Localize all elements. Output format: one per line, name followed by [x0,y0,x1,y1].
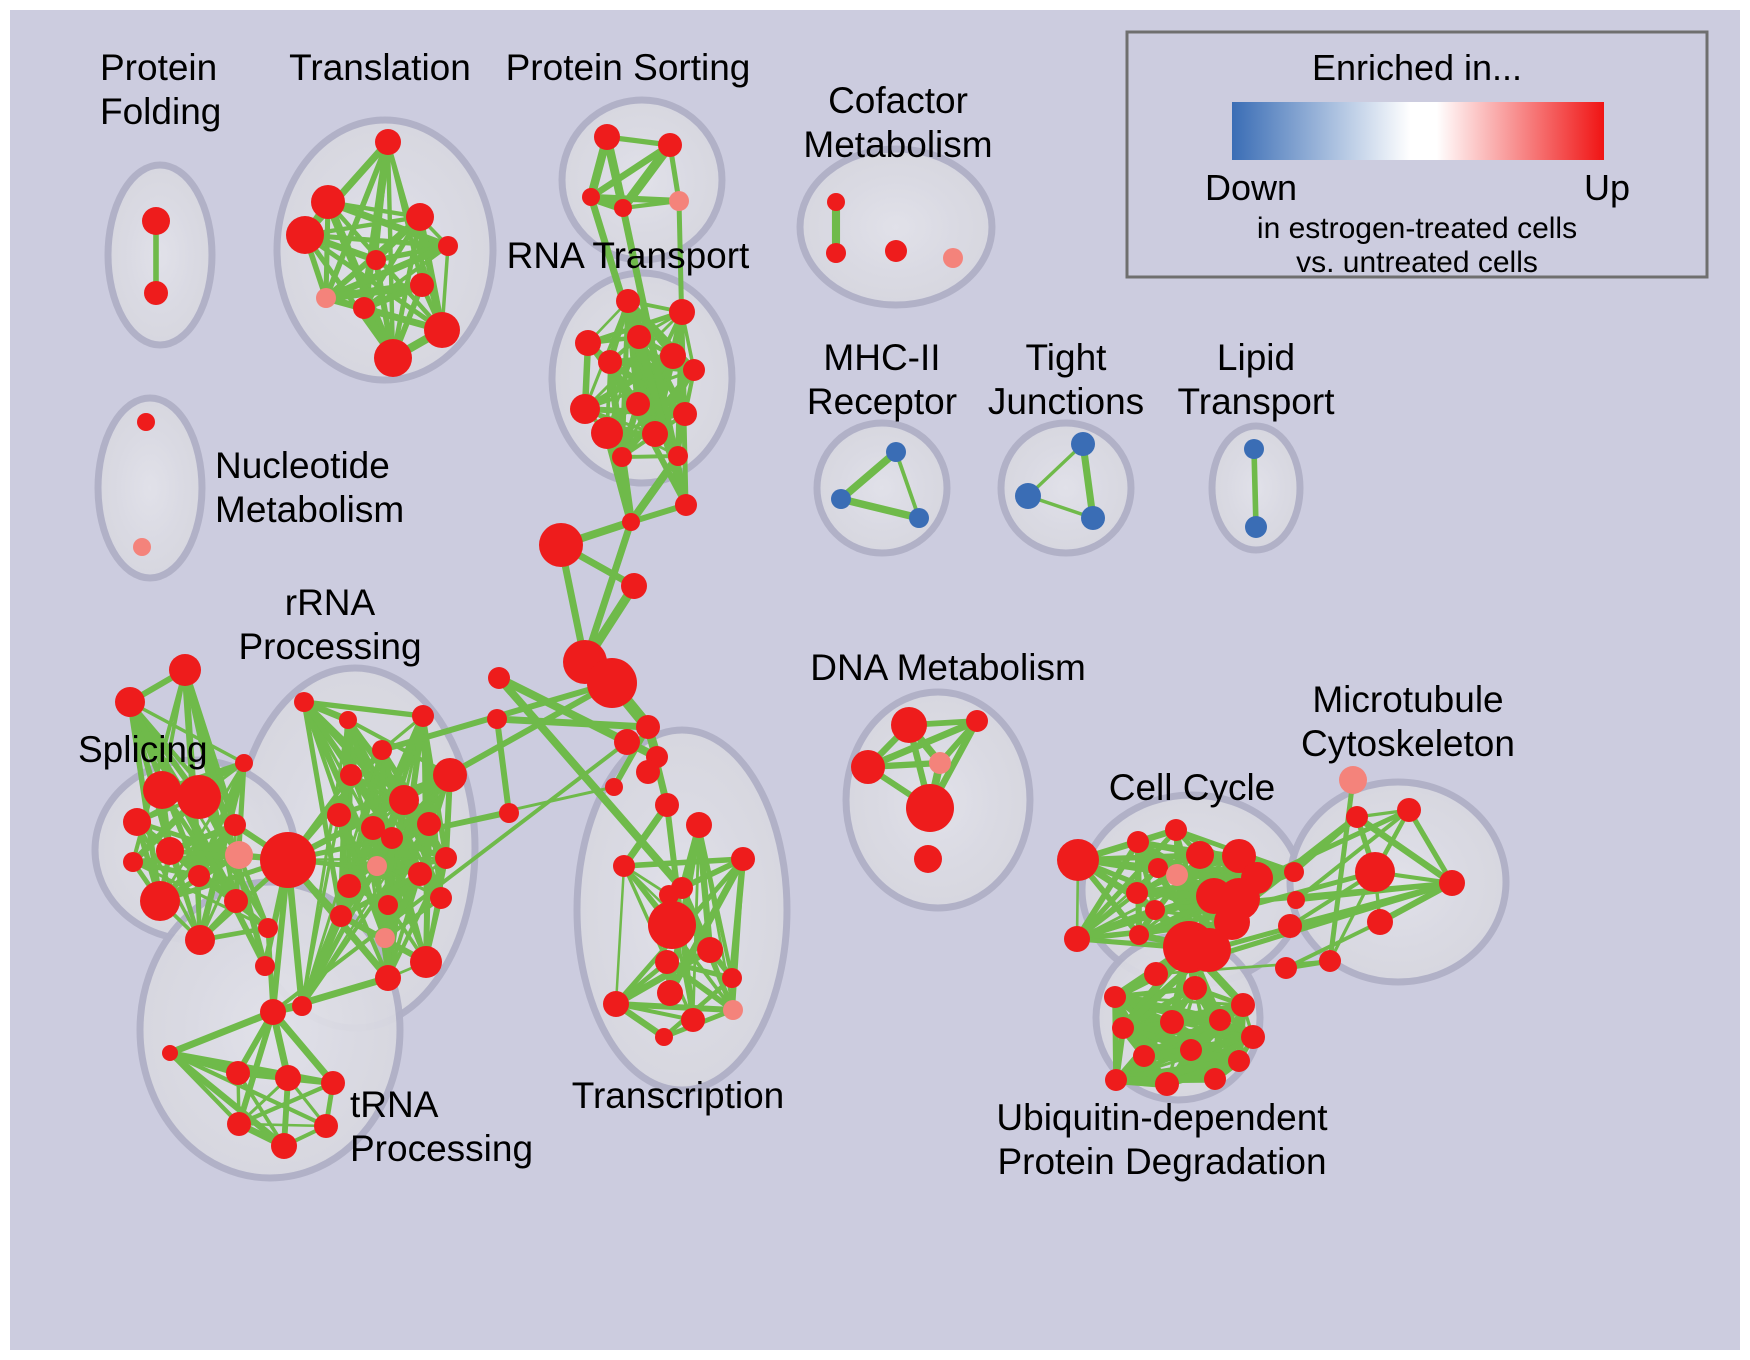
gene-set-node[interactable] [1148,858,1168,878]
gene-set-node[interactable] [156,837,184,865]
gene-set-node[interactable] [487,709,507,729]
cluster-label-protein-folding: ProteinFolding [100,47,221,132]
gene-set-node[interactable] [1160,1010,1184,1034]
gene-set-node[interactable] [587,658,637,708]
gene-set-node[interactable] [1439,870,1465,896]
cluster-label-rna-transport: RNA Transport [507,235,750,276]
gene-set-node[interactable] [626,392,650,416]
gene-set-node[interactable] [582,188,600,206]
gene-set-node[interactable] [660,343,686,369]
gene-set-node[interactable] [1278,914,1302,938]
gene-set-node[interactable] [1287,891,1305,909]
gene-set-node[interactable] [144,281,168,305]
gene-set-node[interactable] [133,538,151,556]
gene-set-node[interactable] [1209,1009,1231,1031]
gene-set-node[interactable] [378,895,398,915]
gene-set-node[interactable] [340,764,362,786]
gene-set-node[interactable] [1105,1069,1127,1091]
gene-set-node[interactable] [636,760,660,784]
edge-protein-sorting [591,197,679,201]
network-canvas: ProteinFoldingTranslationProtein Sorting… [10,10,1740,1350]
gene-set-node[interactable] [433,758,467,792]
gene-set-node[interactable] [612,447,632,467]
gene-set-node[interactable] [162,1045,178,1061]
gene-set-node[interactable] [389,785,419,815]
gene-set-node[interactable] [330,905,352,927]
cluster-label-transcription: Transcription [572,1075,784,1116]
gene-set-node[interactable] [1187,928,1231,972]
gene-set-node[interactable] [488,667,510,689]
gene-set-node[interactable] [655,950,679,974]
gene-set-node[interactable] [1071,432,1095,456]
gene-set-node[interactable] [316,288,336,308]
gene-set-node[interactable] [1183,976,1207,1000]
gene-set-node[interactable] [226,1061,250,1085]
gene-set-node[interactable] [686,812,712,838]
gene-set-node[interactable] [909,508,929,528]
cluster-ellipse-mhc-ii-receptor [817,423,947,553]
gene-set-node[interactable] [137,413,155,431]
legend-up-label: Up [1584,167,1630,208]
gene-set-node[interactable] [225,841,253,869]
gene-set-node[interactable] [655,1028,673,1046]
gene-set-node[interactable] [1339,766,1367,794]
gene-set-node[interactable] [406,203,434,231]
gene-set-node[interactable] [372,740,392,760]
gene-set-node[interactable] [655,793,679,817]
gene-set-node[interactable] [668,446,688,466]
gene-set-node[interactable] [327,803,351,827]
gene-set-node[interactable] [140,881,180,921]
gene-set-node[interactable] [722,968,742,988]
gene-set-node[interactable] [613,855,635,877]
gene-set-node[interactable] [885,240,907,262]
gene-set-node[interactable] [260,832,316,888]
gene-set-node[interactable] [123,852,143,872]
edge-lipid [1254,449,1256,527]
gene-set-node[interactable] [227,1112,251,1136]
legend-caption-line1: in estrogen-treated cells [1257,212,1577,245]
gene-set-node[interactable] [408,862,432,886]
cluster-label-trna-processing: tRNAProcessing [350,1084,533,1169]
legend-panel: Enriched in... Down Up in estrogen-treat… [1127,32,1707,279]
gene-set-node[interactable] [1186,841,1214,869]
gene-set-node[interactable] [1104,986,1126,1008]
gene-set-node[interactable] [1112,1017,1134,1039]
gene-set-node[interactable] [603,991,629,1017]
figure-root: ProteinFoldingTranslationProtein Sorting… [0,0,1750,1360]
gene-set-node[interactable] [185,925,215,955]
gene-set-node[interactable] [499,803,519,823]
gene-set-node[interactable] [169,654,201,686]
cluster-label-nucleotide-metabolism: NucleotideMetabolism [215,445,404,530]
gene-set-node[interactable] [831,489,851,509]
gene-set-node[interactable] [271,1133,297,1159]
gene-set-node[interactable] [614,199,632,217]
gene-set-node[interactable] [1275,957,1297,979]
cluster-label-tight-junctions: TightJunctions [988,337,1144,422]
gene-set-node[interactable] [906,784,954,832]
gene-set-node[interactable] [591,417,623,449]
gene-set-node[interactable] [929,752,951,774]
edge-bridge [497,719,509,813]
gene-set-node[interactable] [177,775,221,819]
gene-set-node[interactable] [616,289,640,313]
gene-set-node[interactable] [374,339,412,377]
gene-set-node[interactable] [224,889,248,913]
gene-set-node[interactable] [1245,516,1267,538]
gene-set-node[interactable] [539,523,583,567]
gene-set-node[interactable] [891,707,927,743]
gene-set-node[interactable] [123,808,151,836]
gene-set-node[interactable] [658,133,682,157]
gene-set-node[interactable] [1057,839,1099,881]
edge-bridge [497,719,648,727]
gene-set-node[interactable] [657,980,683,1006]
gene-set-node[interactable] [621,573,647,599]
gene-set-node[interactable] [1204,1068,1226,1090]
legend-caption-line2: vs. untreated cells [1296,246,1538,279]
gene-set-node[interactable] [723,1000,743,1020]
gene-set-node[interactable] [255,956,275,976]
gene-set-node[interactable] [321,1071,345,1095]
cluster-label-ubiquitin-protein-degradation: Ubiquitin-dependentProtein Degradation [996,1097,1328,1182]
gene-set-node[interactable] [115,687,145,717]
gene-set-node[interactable] [417,812,441,836]
gene-set-node[interactable] [914,845,942,873]
gene-set-node[interactable] [188,865,210,887]
gene-set-node[interactable] [826,243,846,263]
gene-set-node[interactable] [286,216,324,254]
gene-set-node[interactable] [224,814,246,836]
gene-set-node[interactable] [1155,1072,1179,1096]
cluster-label-cell-cycle: Cell Cycle [1109,767,1276,808]
gene-set-node[interactable] [851,750,885,784]
gene-set-node[interactable] [627,325,651,349]
gene-set-node[interactable] [1126,882,1148,904]
gene-set-node[interactable] [622,513,640,531]
legend-gradient-bar [1232,102,1604,160]
gene-set-node[interactable] [1241,1025,1265,1049]
gene-set-node[interactable] [598,350,622,374]
cluster-label-rrna-processing: rRNAProcessing [238,582,421,667]
gene-set-node[interactable] [575,330,601,356]
gene-set-node[interactable] [424,312,460,348]
gene-set-node[interactable] [438,236,458,256]
gene-set-node[interactable] [375,928,395,948]
gene-set-node[interactable] [375,965,401,991]
cluster-label-microtubule-cytoskeleton: MicrotubuleCytoskeleton [1301,679,1515,764]
cluster-label-dna-metabolism: DNA Metabolism [810,647,1086,688]
enrichment-network-svg: ProteinFoldingTranslationProtein Sorting… [10,10,1740,1350]
gene-set-node[interactable] [669,299,695,325]
gene-set-node[interactable] [1367,909,1393,935]
gene-set-node[interactable] [827,193,845,211]
gene-set-node[interactable] [673,402,697,426]
gene-set-node[interactable] [353,297,375,319]
gene-set-node[interactable] [337,874,361,898]
gene-set-node[interactable] [1081,506,1105,530]
gene-set-node[interactable] [339,711,357,729]
cluster-label-protein-sorting: Protein Sorting [506,47,751,88]
gene-set-node[interactable] [886,442,906,462]
gene-set-node[interactable] [731,847,755,871]
legend-down-label: Down [1205,167,1297,208]
gene-set-node[interactable] [410,946,442,978]
gene-set-node[interactable] [375,129,401,155]
cluster-label-lipid-transport: LipidTransport [1178,337,1336,422]
legend-title: Enriched in... [1312,47,1522,88]
gene-set-node[interactable] [410,273,434,297]
gene-set-node[interactable] [1397,798,1421,822]
gene-set-node[interactable] [614,729,640,755]
gene-set-node[interactable] [1346,806,1368,828]
cluster-ellipse-protein-folding [108,165,212,345]
gene-set-node[interactable] [648,901,696,949]
gene-set-node[interactable] [1133,1045,1155,1067]
gene-set-node[interactable] [1231,993,1255,1017]
gene-set-node[interactable] [683,359,705,381]
gene-set-node[interactable] [366,250,386,270]
gene-set-node[interactable] [1244,439,1264,459]
cluster-label-splicing: Splicing [78,729,208,770]
gene-set-node[interactable] [143,771,181,809]
cluster-label-mhc-ii-receptor: MHC-IIReceptor [807,337,957,422]
gene-set-node[interactable] [311,185,345,219]
gene-set-node[interactable] [642,421,668,447]
gene-set-node[interactable] [314,1114,338,1138]
gene-set-node[interactable] [430,887,452,909]
gene-set-node[interactable] [1166,864,1188,886]
gene-set-node[interactable] [605,778,623,796]
gene-set-node[interactable] [1064,926,1090,952]
gene-set-node[interactable] [1180,1039,1202,1061]
gene-set-node[interactable] [381,827,403,849]
gene-set-node[interactable] [1145,900,1165,920]
gene-set-node[interactable] [675,494,697,516]
gene-set-node[interactable] [260,999,286,1025]
gene-set-node[interactable] [1165,819,1187,841]
gene-set-node[interactable] [966,710,988,732]
gene-set-node[interactable] [235,754,253,772]
gene-set-node[interactable] [943,248,963,268]
gene-set-node[interactable] [294,692,314,712]
gene-set-node[interactable] [1127,831,1149,853]
gene-set-node[interactable] [258,918,278,938]
gene-set-node[interactable] [292,996,312,1016]
gene-set-node[interactable] [681,1008,705,1032]
gene-set-node[interactable] [1284,862,1304,882]
cluster-ellipse-cofactor-metabolism [800,149,992,305]
gene-set-node[interactable] [1319,950,1341,972]
gene-set-node[interactable] [1355,852,1395,892]
gene-set-node[interactable] [636,715,660,739]
gene-set-node[interactable] [412,705,434,727]
cluster-label-cofactor-metabolism: CofactorMetabolism [803,80,992,165]
gene-set-node[interactable] [1015,483,1041,509]
gene-set-node[interactable] [1129,925,1149,945]
gene-set-node[interactable] [669,191,689,211]
gene-set-node[interactable] [1228,1050,1250,1072]
gene-set-node[interactable] [435,847,457,869]
gene-set-node[interactable] [367,856,387,876]
gene-set-node[interactable] [275,1065,301,1091]
gene-set-node[interactable] [1144,962,1168,986]
cluster-label-translation: Translation [289,47,471,88]
gene-set-node[interactable] [142,207,170,235]
gene-set-node[interactable] [594,124,620,150]
gene-set-node[interactable] [697,937,723,963]
gene-set-node[interactable] [570,394,600,424]
